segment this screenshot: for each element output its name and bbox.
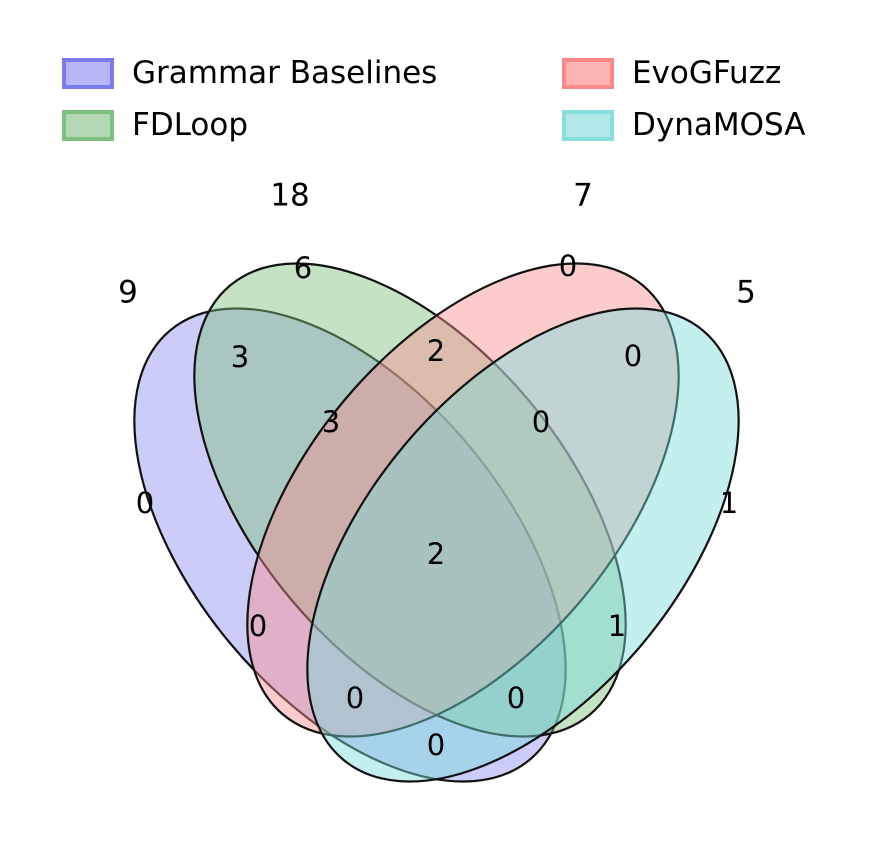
venn-region-AB: 3 [231,340,249,374]
set-total-evogfuzz: 7 [573,178,593,214]
venn-region-D: 1 [720,486,738,520]
legend-swatch-dynamosa [562,110,614,141]
legend: Grammar Baselines FDLoop EvoGFuzz DynaMO… [0,0,873,160]
legend-label-dynamosa: DynaMOSA [632,110,805,141]
venn-region-CD: 0 [624,339,642,373]
legend-label-fdloop: FDLoop [132,110,248,141]
set-total-dynamosa: 5 [736,275,756,311]
venn-region-ABD: 0 [507,681,525,715]
venn-region-BC: 2 [427,334,445,368]
venn-region-ABCD: 2 [427,537,445,571]
legend-entry-dynamosa[interactable]: DynaMOSA [562,110,805,141]
legend-label-grammar-baselines: Grammar Baselines [132,58,437,89]
legend-swatch-fdloop [62,110,114,141]
legend-label-evogfuzz: EvoGFuzz [632,58,781,89]
venn-region-ACD: 0 [427,728,445,762]
set-total-grammar-baselines: 9 [118,275,138,311]
legend-entry-grammar-baselines[interactable]: Grammar Baselines [62,58,437,89]
venn-figure: Grammar Baselines FDLoop EvoGFuzz DynaMO… [0,0,873,868]
legend-swatch-grammar-baselines [62,58,114,89]
venn-region-BD: 1 [608,609,626,643]
venn-region-ABC: 3 [322,405,340,439]
legend-swatch-evogfuzz [562,58,614,89]
legend-entry-fdloop[interactable]: FDLoop [62,110,248,141]
venn-region-C: 0 [559,249,577,283]
venn-region-A: 0 [136,486,154,520]
venn-region-AD: 0 [346,681,364,715]
venn-region-AC: 0 [249,609,267,643]
venn-diagram: 9 18 7 5 0 6 0 1 3 0 0 2 1 0 3 0 0 0 [0,150,873,868]
venn-region-B: 6 [294,251,312,285]
venn-svg: 9 18 7 5 0 6 0 1 3 0 0 2 1 0 3 0 0 0 [0,150,873,868]
set-total-fdloop: 18 [270,178,309,214]
venn-region-BCD: 0 [532,405,550,439]
venn-set-totals: 9 18 7 5 [118,178,756,311]
legend-entry-evogfuzz[interactable]: EvoGFuzz [562,58,781,89]
